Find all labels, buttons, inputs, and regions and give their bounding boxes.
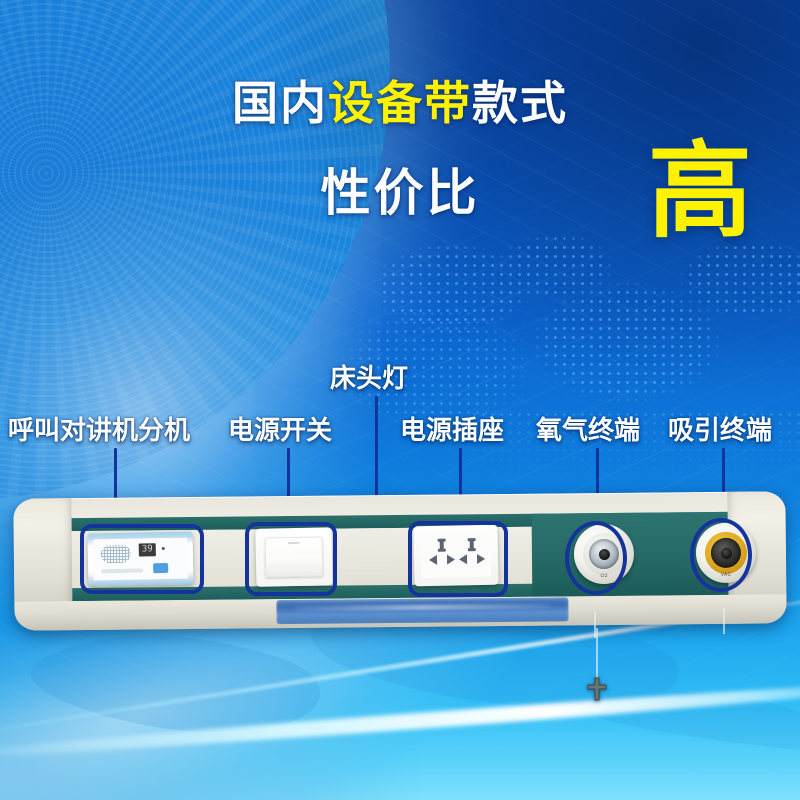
callout-label-bed-lamp: 床头灯 [330, 358, 408, 395]
callout-label-power-socket: 电源插座 [400, 410, 504, 447]
headline-seg-4: 性价比 [321, 165, 480, 221]
pull-cord-handle-icon[interactable] [584, 676, 610, 702]
callout-label-suction-outlet: 吸引终端 [668, 410, 772, 447]
product-banner: 国内设备带款式 性价比 高 呼叫对讲机分机电源开关床头灯电源插座氧气终端吸引终端… [0, 0, 800, 800]
callout-label-intercom: 呼叫对讲机分机 [8, 410, 190, 447]
headline-seg-1: 国内 [232, 77, 328, 129]
bed-lamp-light-strip [276, 597, 568, 624]
headline-seg-3: 款式 [472, 77, 568, 129]
callout-label-power-switch: 电源开关 [228, 410, 332, 447]
highlight-power-socket [408, 521, 508, 597]
headline-line-1: 国内设备带款式 [0, 78, 800, 129]
suction-pull-cord [723, 608, 725, 634]
headline-accent-character: 高 [648, 140, 752, 244]
highlight-power-switch [245, 522, 337, 596]
highlight-suction-outlet [690, 518, 752, 592]
headline-seg-2: 设备带 [328, 77, 472, 129]
callout-label-oxygen-outlet: 氧气终端 [536, 410, 640, 447]
highlight-oxygen-outlet [565, 521, 627, 595]
highlight-intercom [80, 524, 204, 594]
